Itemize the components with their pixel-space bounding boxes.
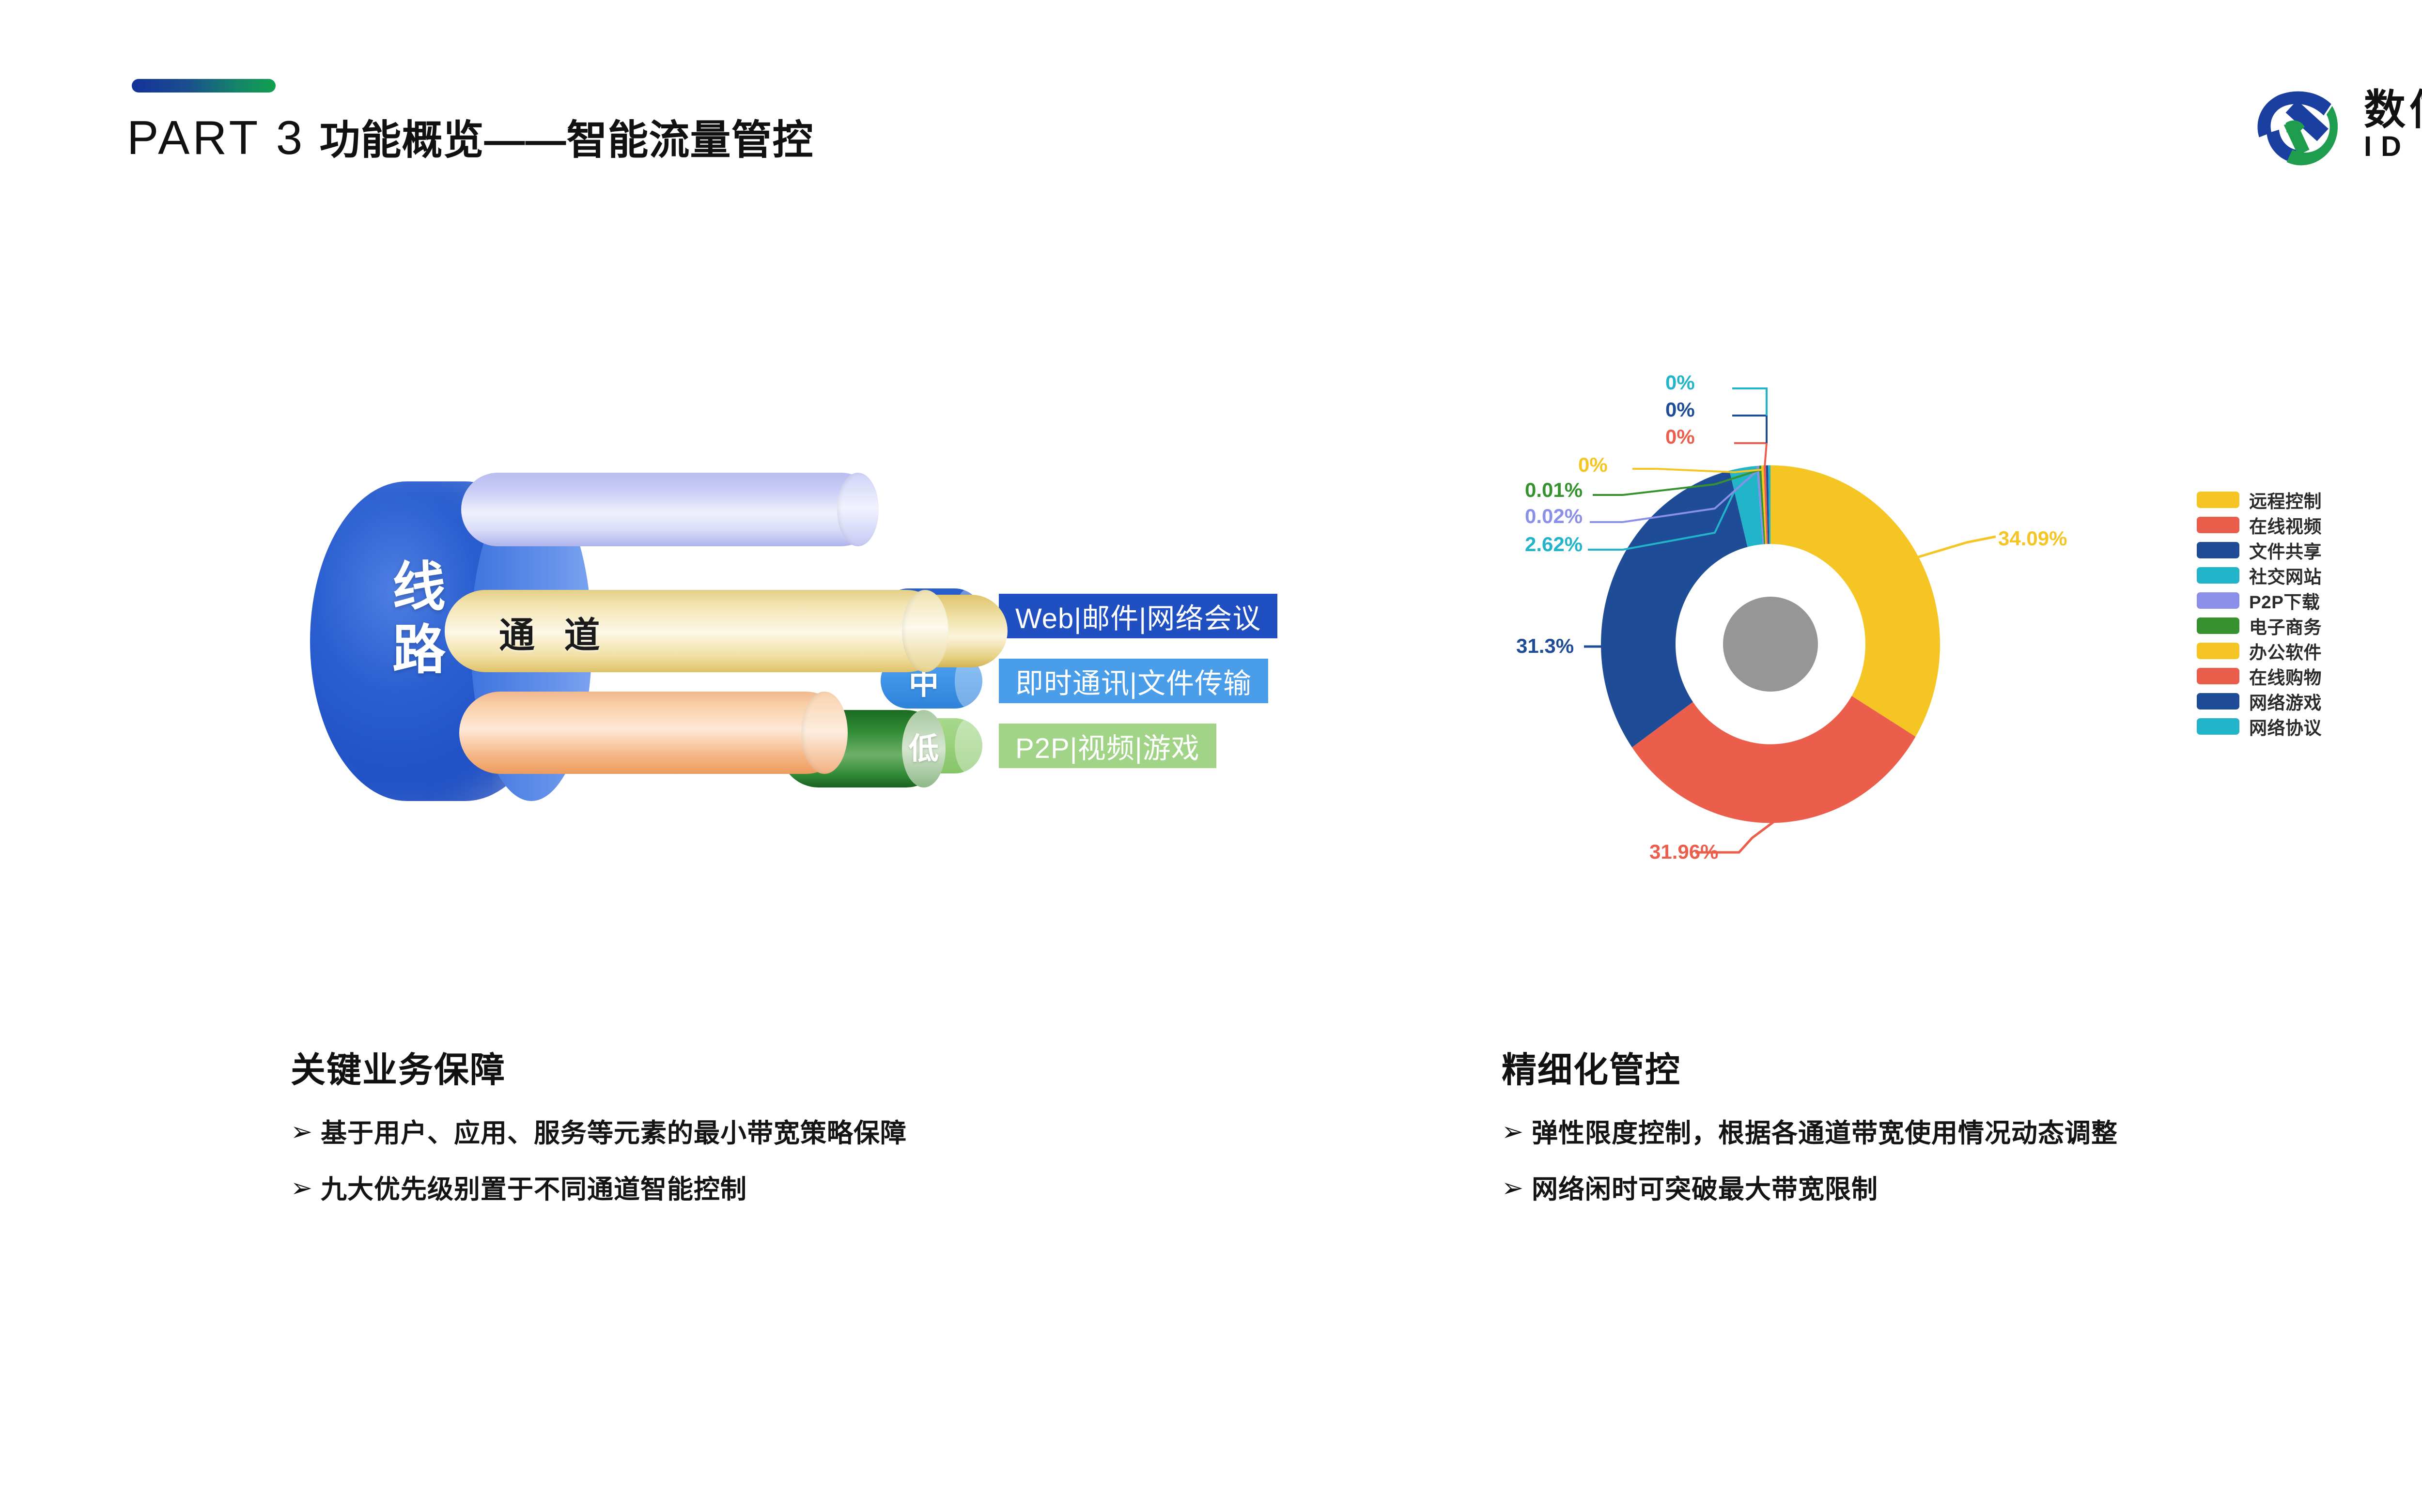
slice-label-online-video: 31.96% xyxy=(1649,840,1718,864)
legend-swatch-icon xyxy=(2197,693,2239,710)
legend-label: 办公软件 xyxy=(2249,638,2322,664)
legend-swatch-icon xyxy=(2197,592,2239,609)
channel-cream-cap xyxy=(902,590,948,672)
slice-label-office-software: 0% xyxy=(1578,453,1608,477)
legend-label: 电子商务 xyxy=(2249,613,2322,639)
leader-line xyxy=(1916,537,1996,558)
channel-orange-cap xyxy=(801,692,848,774)
chart-legend: 远程控制在线视频文件共享社交网站P2P下载电子商务办公软件在线购物网络游戏网络协… xyxy=(2197,479,2357,747)
arrow-bullet-icon: ➢ xyxy=(291,1173,321,1202)
legend-item[interactable]: 网络游戏 xyxy=(2197,689,2357,714)
block-left-item-1: 基于用户、应用、服务等元素的最小带宽策略保障 xyxy=(321,1117,907,1150)
legend-item[interactable]: 在线购物 xyxy=(2197,663,2357,689)
legend-item[interactable]: 电子商务 xyxy=(2197,613,2357,638)
block-right-item-2: 网络闲时可突破最大带宽限制 xyxy=(1532,1173,1878,1206)
legend-swatch-icon xyxy=(2197,718,2239,735)
list-item: ➢ 基于用户、应用、服务等元素的最小带宽策略保障 xyxy=(291,1117,1308,1150)
leader-line xyxy=(1732,388,1767,416)
slice-label-online-game: 0% xyxy=(1665,398,1695,421)
slice-label-file-share: 31.3% xyxy=(1516,634,1574,658)
slice-label-p2p-download: 0.02% xyxy=(1525,505,1583,528)
legend-swatch-icon xyxy=(2197,542,2239,558)
slice-label-remote-control: 34.09% xyxy=(1998,527,2067,550)
channel-orange xyxy=(459,692,847,774)
brand-name-cn: 数信安全 xyxy=(2364,89,2422,131)
key-business-guarantee-block: 关键业务保障 ➢ 基于用户、应用、服务等元素的最小带宽策略保障 ➢ 九大优先级别… xyxy=(291,1041,1308,1229)
brand-text: 数信安全 ID SEC xyxy=(2364,89,2422,161)
legend-label: 在线视频 xyxy=(2249,512,2322,538)
idsec-logo-icon xyxy=(2252,77,2347,172)
block-left-item-2: 九大优先级别置于不同通道智能控制 xyxy=(321,1173,747,1206)
legend-item[interactable]: 远程控制 xyxy=(2197,487,2357,512)
slice-label-social-site: 2.62% xyxy=(1525,533,1583,556)
block-right-item-1: 弹性限度控制，根据各通道带宽使用情况动态调整 xyxy=(1532,1117,2118,1150)
legend-item[interactable]: 社交网站 xyxy=(2197,563,2357,588)
page-title-subject: 功能概览——智能流量管控 xyxy=(320,117,814,163)
leader-line xyxy=(1734,443,1767,466)
channel-orange-body xyxy=(459,692,847,774)
channel-label: 通 道 xyxy=(499,606,610,658)
arrow-bullet-icon: ➢ xyxy=(291,1117,321,1146)
legend-label: P2P下载 xyxy=(2249,587,2320,614)
legend-swatch-icon xyxy=(2197,567,2239,584)
legend-label: 社交网站 xyxy=(2249,562,2322,588)
brand-name-en: ID SEC xyxy=(2364,133,2422,161)
slide-header: PART 3 功能概览——智能流量管控 数信安全 ID SEC xyxy=(0,0,2422,208)
priority-apps-low: P2P|视频|游戏 xyxy=(999,724,1216,768)
block-left-title: 关键业务保障 xyxy=(291,1041,1308,1092)
slice-label-online-shopping: 0% xyxy=(1665,425,1695,448)
arrow-bullet-icon: ➢ xyxy=(1502,1117,1532,1146)
legend-label: 文件共享 xyxy=(2249,537,2322,563)
fine-grained-control-block: 精细化管控 ➢ 弹性限度控制，根据各通道带宽使用情况动态调整 ➢ 网络闲时可突破… xyxy=(1502,1041,2422,1229)
slice-label-net-protocol: 0% xyxy=(1665,371,1695,394)
slice-label-ecommerce: 0.01% xyxy=(1525,478,1583,502)
accent-bar xyxy=(132,79,276,93)
legend-swatch-icon xyxy=(2197,668,2239,684)
priority-apps-medium: 即时通讯|文件传输 xyxy=(999,659,1268,703)
legend-swatch-icon xyxy=(2197,517,2239,533)
legend-item[interactable]: 在线视频 xyxy=(2197,512,2357,538)
legend-label: 远程控制 xyxy=(2249,487,2322,513)
legend-label: 网络协议 xyxy=(2249,713,2322,740)
channel-lavender-body xyxy=(461,473,878,546)
priority-apps-high: Web|邮件|网络会议 xyxy=(999,594,1277,638)
list-item: ➢ 弹性限度控制，根据各通道带宽使用情况动态调整 xyxy=(1502,1117,2422,1150)
legend-item[interactable]: 办公软件 xyxy=(2197,638,2357,663)
brand-logo: 数信安全 ID SEC xyxy=(2252,77,2422,172)
legend-item[interactable]: 网络协议 xyxy=(2197,714,2357,739)
channel-lavender xyxy=(461,473,878,546)
priority-row-low: 低 P2P|视频|游戏 xyxy=(881,718,1452,773)
legend-swatch-icon xyxy=(2197,643,2239,659)
channel-lavender-cap xyxy=(837,473,879,546)
page-title-part: PART 3 xyxy=(127,111,305,164)
donut-center-marker xyxy=(1723,597,1818,692)
legend-item[interactable]: P2P下载 xyxy=(2197,588,2357,613)
priority-level-low: 低 xyxy=(909,724,940,768)
list-item: ➢ 网络闲时可突破最大带宽限制 xyxy=(1502,1173,2422,1206)
page-title: PART 3 功能概览——智能流量管控 xyxy=(127,108,814,166)
arrow-bullet-icon: ➢ xyxy=(1502,1173,1532,1202)
legend-label: 在线购物 xyxy=(2249,663,2322,689)
legend-label: 网络游戏 xyxy=(2249,688,2322,714)
list-item: ➢ 九大优先级别置于不同通道智能控制 xyxy=(291,1173,1308,1206)
block-right-title: 精细化管控 xyxy=(1502,1041,2422,1092)
legend-item[interactable]: 文件共享 xyxy=(2197,538,2357,563)
legend-swatch-icon xyxy=(2197,492,2239,508)
leader-line xyxy=(1732,416,1767,443)
legend-swatch-icon xyxy=(2197,617,2239,634)
donut-slice[interactable] xyxy=(1770,465,1940,737)
